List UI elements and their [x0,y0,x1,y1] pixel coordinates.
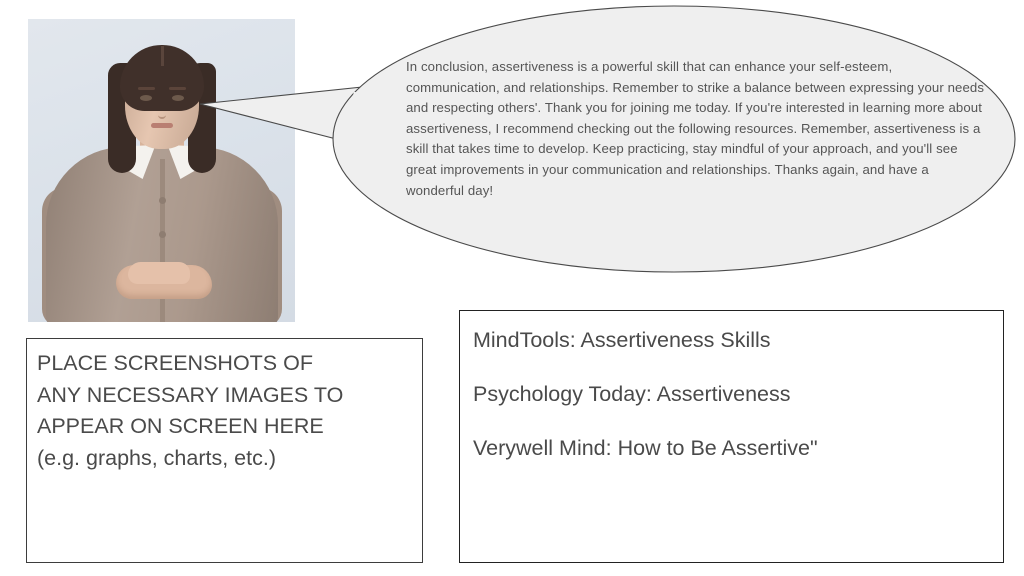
placeholder-text-block: PLACE SCREENSHOTS OF ANY NECESSARY IMAGE… [37,348,415,474]
presenter-nose [158,105,166,119]
list-item[interactable]: Psychology Today: Assertiveness [473,381,988,407]
presenter-hand-overlap [128,262,190,284]
placeholder-line-3: APPEAR ON SCREEN HERE [37,411,415,443]
placeholder-line-2: ANY NECESSARY IMAGES TO [37,380,415,412]
cardigan-button [159,231,166,238]
speech-bubble-text: In conclusion, assertiveness is a powerf… [406,57,986,201]
tail-seam-mask [344,92,355,136]
slide-canvas: In conclusion, assertiveness is a powerf… [0,0,1024,576]
list-item[interactable]: Verywell Mind: How to Be Assertive" [473,435,988,461]
placeholder-line-4: (e.g. graphs, charts, etc.) [37,443,415,475]
list-item[interactable]: MindTools: Assertiveness Skills [473,327,988,353]
presenter-figure [28,19,295,322]
resources-list: MindTools: Assertiveness Skills Psycholo… [473,327,988,461]
presenter-hair-part [161,46,164,66]
presenter-photo [28,19,295,322]
presenter-eyebrow-right [169,87,186,90]
placeholder-line-1: PLACE SCREENSHOTS OF [37,348,415,380]
presenter-mouth [151,123,173,128]
presenter-eye-left [140,95,152,101]
screenshot-placeholder-box[interactable]: PLACE SCREENSHOTS OF ANY NECESSARY IMAGE… [26,338,423,563]
presenter-eyebrow-left [138,87,155,90]
presenter-eye-right [172,95,184,101]
resources-box[interactable]: MindTools: Assertiveness Skills Psycholo… [459,310,1004,563]
cardigan-button [159,197,166,204]
